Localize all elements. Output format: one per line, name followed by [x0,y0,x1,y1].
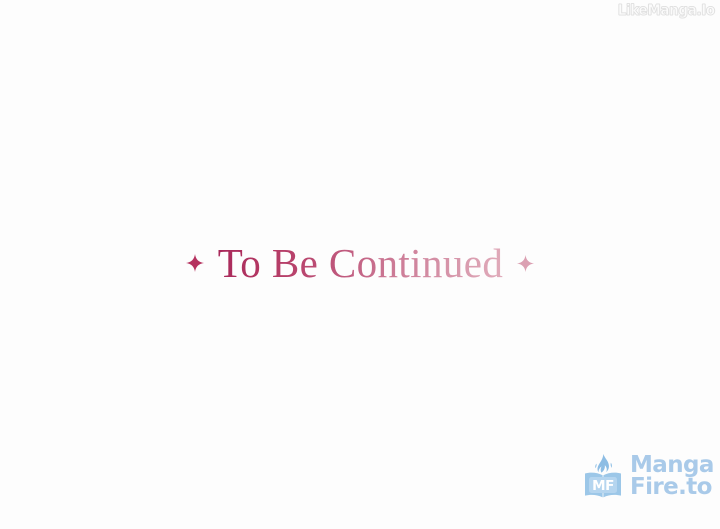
site-watermark: LikeManga.Io [618,1,715,19]
end-card: To Be Continued [0,232,720,294]
svg-text:MF: MF [592,478,614,494]
four-point-sparkle-icon-left [186,254,204,272]
mangafire-book-flame-icon: MF [582,452,624,500]
mangafire-logo[interactable]: MF Manga Fire.to [582,450,710,502]
to-be-continued-text: To Be Continued [218,243,504,284]
brand-line-2: Fire.to [630,476,714,498]
four-point-sparkle-icon-right [517,255,534,272]
mangafire-wordmark: Manga Fire.to [630,454,714,498]
brand-line-1: Manga [630,454,714,476]
comic-page: LikeManga.Io To Be Continued [0,0,720,529]
